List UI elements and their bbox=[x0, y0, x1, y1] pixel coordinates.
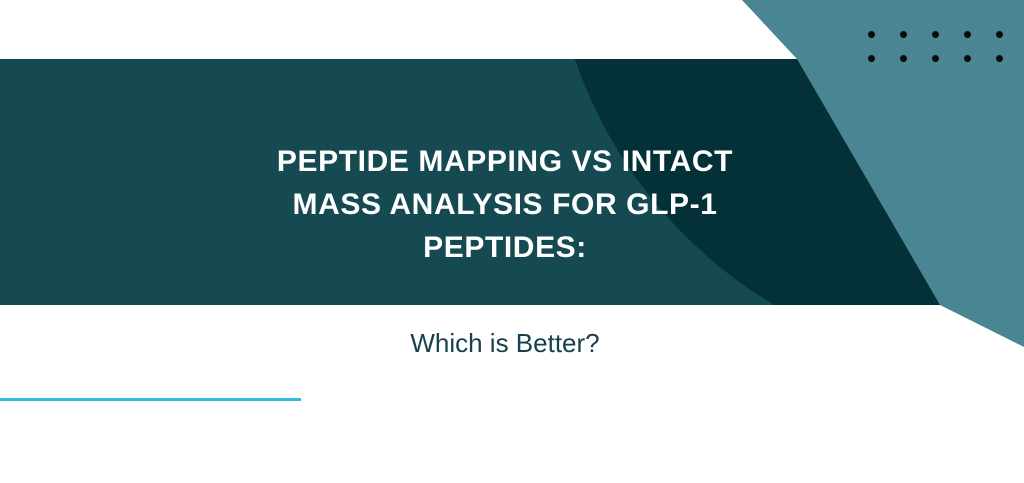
dot bbox=[964, 31, 971, 38]
dot bbox=[964, 55, 971, 62]
dot-grid-decoration bbox=[855, 22, 1015, 70]
dot bbox=[868, 31, 875, 38]
title-line-3: PEPTIDES: bbox=[0, 226, 1010, 269]
title-line-1: PEPTIDE MAPPING VS INTACT bbox=[0, 140, 1010, 183]
accent-rule bbox=[0, 398, 301, 401]
title-line-2: MASS ANALYSIS FOR GLP-1 bbox=[0, 183, 1010, 226]
dot bbox=[932, 31, 939, 38]
page-subtitle: Which is Better? bbox=[0, 326, 1010, 360]
dot bbox=[868, 55, 875, 62]
dot bbox=[900, 55, 907, 62]
dot bbox=[932, 55, 939, 62]
dot bbox=[996, 55, 1003, 62]
banner-graphic: PEPTIDE MAPPING VS INTACT MASS ANALYSIS … bbox=[0, 0, 1024, 483]
dot bbox=[996, 31, 1003, 38]
dot bbox=[900, 31, 907, 38]
page-title: PEPTIDE MAPPING VS INTACT MASS ANALYSIS … bbox=[0, 140, 1010, 269]
